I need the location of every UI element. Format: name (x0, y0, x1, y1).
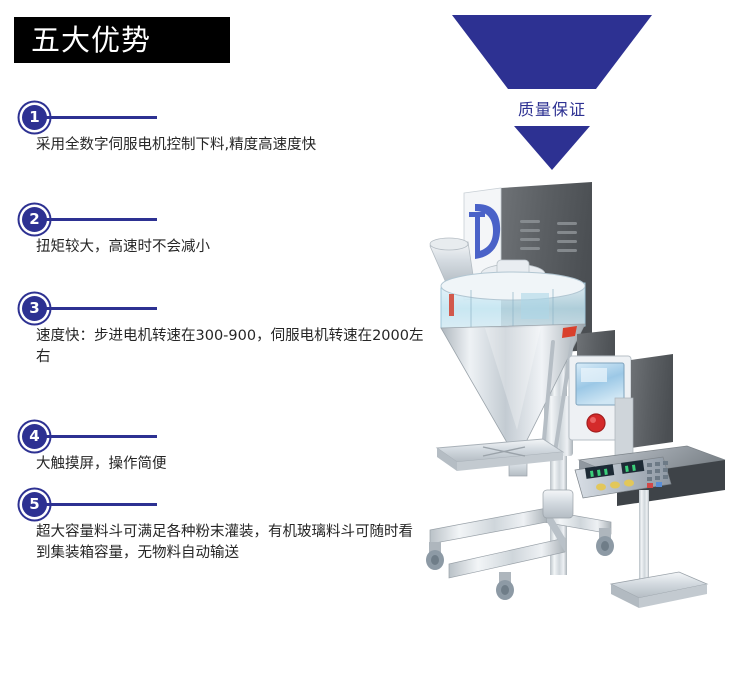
base-arm-left-rear (430, 508, 547, 544)
estop-highlight (590, 417, 596, 423)
hopper-indicator (449, 294, 454, 316)
emergency-stop-button[interactable] (587, 414, 605, 432)
scale-keypad[interactable] (647, 461, 668, 481)
machine-photo (425, 160, 750, 620)
advantage-rule-2 (44, 218, 157, 221)
advantage-rule-5 (44, 503, 157, 506)
advantage-text-3: 速度快：步进电机转速在300-900，伺服电机转速在2000左右 (36, 326, 426, 368)
advantage-text-4: 大触摸屏，操作简便 (36, 454, 426, 475)
control-box-side-panel (631, 354, 673, 448)
advantages-list: 1 采用全数字伺服电机控制下料,精度高速度快 2 扭矩较大，高速时不会减小 3 … (0, 0, 450, 677)
advantage-text-5: 超大容量料斗可满足各种粉末灌装，有机玻璃料斗可随时看到集装箱容量，无物料自动输送 (36, 522, 426, 564)
advantage-rule-4 (44, 435, 157, 438)
quality-badge-label: 质量保证 (452, 96, 652, 120)
scale-key-blue[interactable] (656, 482, 662, 487)
advantage-text-2: 扭矩较大，高速时不会减小 (36, 237, 426, 258)
machine-illustration (425, 160, 750, 620)
quality-funnel-graphic: 质量保证 (452, 0, 652, 170)
caster-wheel (426, 542, 444, 570)
advantage-rule-3 (44, 307, 157, 310)
advantages-page: 五大优势 1 采用全数字伺服电机控制下料,精度高速度快 2 扭矩较大，高速时不会… (0, 0, 750, 677)
scale-pedestal-post (639, 490, 649, 586)
control-box-bracket (615, 398, 633, 462)
screen-glare (581, 368, 607, 382)
feed-chute-mouth (430, 238, 468, 250)
scale-key-red[interactable] (647, 483, 653, 488)
hopper-window (521, 293, 549, 319)
caster-wheel (496, 572, 514, 600)
advantage-rule-1 (44, 116, 157, 119)
advantage-text-1: 采用全数字伺服电机控制下料,精度高速度快 (36, 135, 426, 156)
funnel-top-shape (452, 15, 652, 89)
mast-base-collar (543, 490, 573, 518)
